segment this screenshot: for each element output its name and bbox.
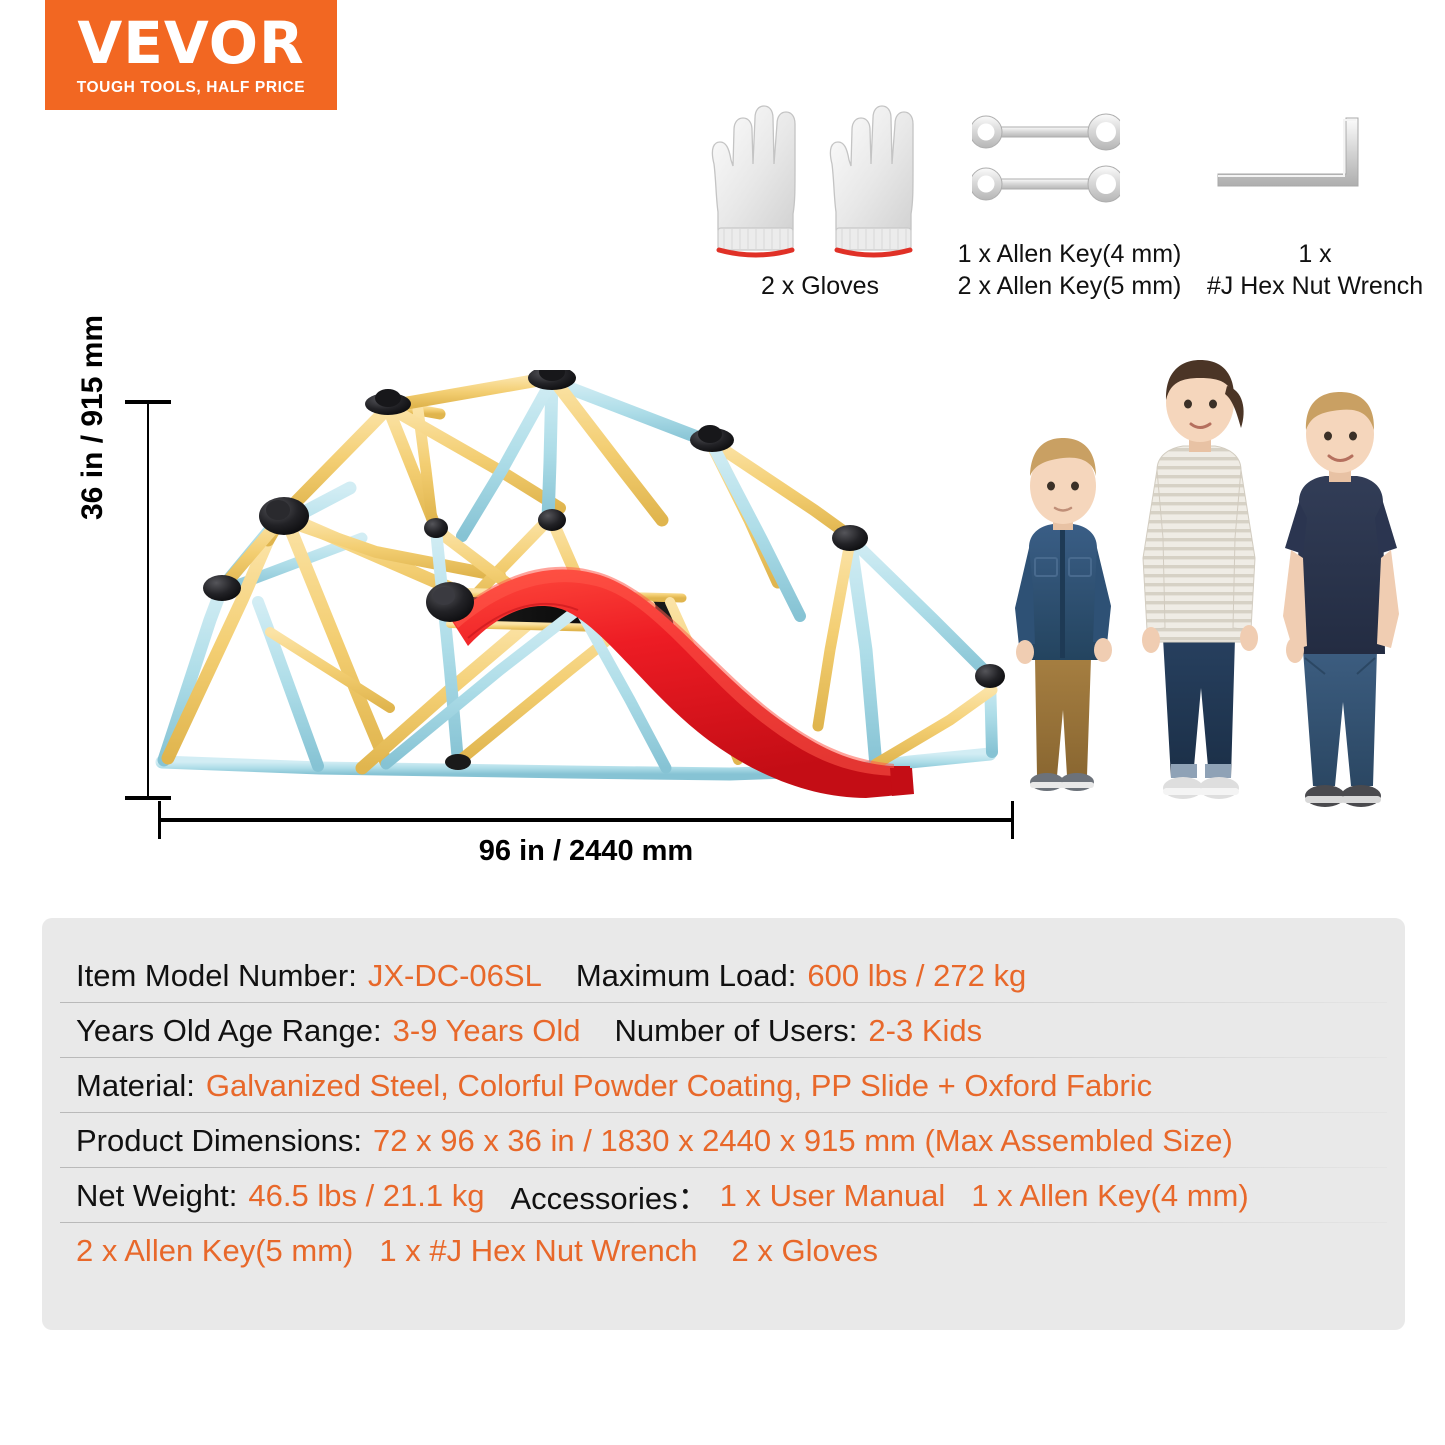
spec-value: 2 x Gloves: [732, 1233, 878, 1269]
spec-row: Material: Galvanized Steel, Colorful Pow…: [42, 1058, 1405, 1113]
hex-key-caption-line-1: 1 x: [1200, 238, 1430, 270]
spec-value: Galvanized Steel, Colorful Powder Coatin…: [206, 1068, 1152, 1104]
spec-row: Net Weight: 46.5 lbs / 21.1 kg Accessori…: [42, 1168, 1405, 1223]
infographic-page: VEVOR TOUGH TOOLS, HALF PRICE: [0, 0, 1445, 1445]
spec-row: 2 x Allen Key(5 mm) 1 x #J Hex Nut Wrenc…: [42, 1223, 1405, 1278]
wrench-caption-line-1: 1 x Allen Key(4 mm): [952, 238, 1187, 270]
spec-value: 3-9 Years Old: [393, 1013, 581, 1049]
spec-label: Number of Users:: [615, 1013, 858, 1049]
accessory-gloves: 2 x Gloves: [690, 100, 950, 302]
width-dimension-line: [158, 818, 1014, 822]
hex-key-caption-line-2: #J Hex Nut Wrench: [1200, 270, 1430, 302]
spec-value: 46.5 lbs / 21.1 kg: [248, 1178, 484, 1214]
children-scale-reference: [995, 358, 1435, 838]
specification-panel: Item Model Number: JX-DC-06SL Maximum Lo…: [42, 918, 1405, 1330]
spec-label: Net Weight:: [76, 1178, 237, 1214]
accessory-hex-key: 1 x #J Hex Nut Wrench: [1200, 100, 1430, 302]
accessory-wrenches: 1 x Allen Key(4 mm) 2 x Allen Key(5 mm): [952, 100, 1187, 302]
spec-value: 1 x #J Hex Nut Wrench: [379, 1233, 697, 1269]
child-toddler: [1015, 438, 1112, 791]
gloves-caption: 2 x Gloves: [690, 270, 950, 302]
spec-label: Maximum Load:: [576, 958, 797, 994]
spec-value: 1 x Allen Key(4 mm): [971, 1178, 1248, 1214]
spec-label: Material:: [76, 1068, 195, 1104]
height-dimension-line: [147, 400, 149, 800]
spec-value: JX-DC-06SL: [368, 958, 542, 994]
spec-label: Item Model Number:: [76, 958, 357, 994]
climbing-dome-graphic: [150, 370, 1050, 830]
spec-row: Years Old Age Range: 3-9 Years Old Numbe…: [42, 1003, 1405, 1058]
vevor-logo: VEVOR TOUGH TOOLS, HALF PRICE: [45, 0, 337, 110]
spec-value: 2-3 Kids: [868, 1013, 982, 1049]
spec-value: 72 x 96 x 36 in / 1830 x 2440 x 915 mm (…: [373, 1123, 1233, 1159]
brand-tagline: TOUGH TOOLS, HALF PRICE: [77, 79, 306, 97]
hex-key-icon: [1200, 100, 1430, 220]
spec-label: Accessories：: [511, 1173, 709, 1218]
product-illustration: 36 in / 915 mm 96 in / 2440 mm: [0, 330, 1445, 890]
spec-value: 1 x User Manual: [720, 1178, 946, 1214]
spec-value: 2 x Allen Key(5 mm): [76, 1233, 353, 1269]
spec-row: Product Dimensions: 72 x 96 x 36 in / 18…: [42, 1113, 1405, 1168]
child-boy: [1283, 392, 1399, 807]
spec-label: Product Dimensions:: [76, 1123, 362, 1159]
spec-value: 600 lbs / 272 kg: [807, 958, 1026, 994]
gloves-icon: [690, 100, 950, 260]
wrench-caption-line-2: 2 x Allen Key(5 mm): [952, 270, 1187, 302]
height-dimension-label: 36 in / 915 mm: [76, 315, 110, 520]
hex-key-caption: 1 x #J Hex Nut Wrench: [1200, 238, 1430, 302]
spec-label: Years Old Age Range:: [76, 1013, 382, 1049]
wrench-caption: 1 x Allen Key(4 mm) 2 x Allen Key(5 mm): [952, 238, 1187, 302]
width-dimension-label: 96 in / 2440 mm: [158, 835, 1014, 868]
spec-row: Item Model Number: JX-DC-06SL Maximum Lo…: [42, 948, 1405, 1003]
child-girl: [1142, 360, 1258, 799]
accessories-strip: 2 x Gloves: [690, 100, 1430, 310]
wrench-icon: [952, 100, 1187, 220]
brand-name: VEVOR: [77, 14, 304, 72]
